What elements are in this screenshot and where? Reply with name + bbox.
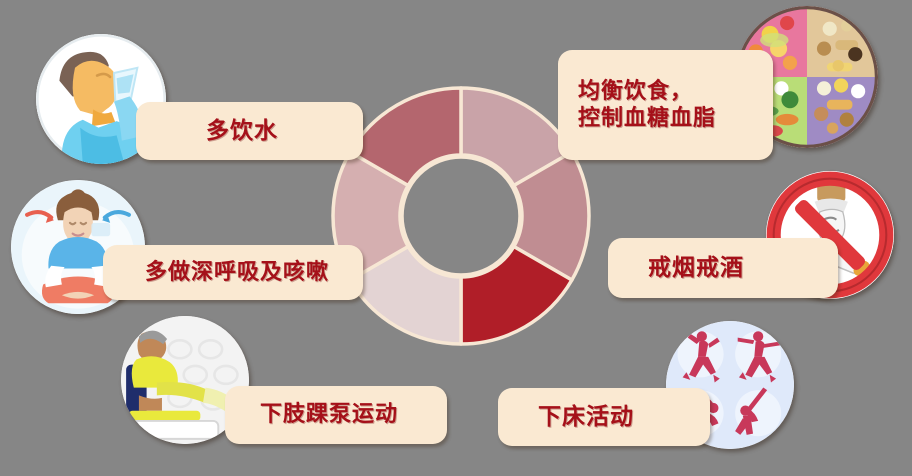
infographic-canvas: 多饮水 均衡饮食， 控制血糖血脂 多做深呼吸及咳嗽 戒烟戒酒 下肢踝泵运动 下床… bbox=[0, 0, 912, 476]
label-text-quit-smoking: 戒烟戒酒 bbox=[648, 254, 744, 283]
label-text-out-of-bed: 下床活动 bbox=[538, 403, 634, 432]
label-pill-diet[interactable]: 均衡饮食， 控制血糖血脂 bbox=[558, 50, 773, 160]
label-pill-ankle-pump[interactable]: 下肢踝泵运动 bbox=[225, 386, 447, 444]
label-pill-breathing[interactable]: 多做深呼吸及咳嗽 bbox=[103, 245, 363, 300]
label-text-water: 多饮水 bbox=[206, 117, 278, 146]
center-donut-chart bbox=[330, 85, 592, 347]
label-pill-quit-smoking[interactable]: 戒烟戒酒 bbox=[608, 238, 838, 298]
label-text-breathing: 多做深呼吸及咳嗽 bbox=[145, 259, 329, 287]
label-pill-water[interactable]: 多饮水 bbox=[136, 102, 363, 160]
label-text-diet: 均衡饮食， 控制血糖血脂 bbox=[578, 78, 716, 133]
label-pill-out-of-bed[interactable]: 下床活动 bbox=[498, 388, 710, 446]
label-text-ankle-pump: 下肢踝泵运动 bbox=[260, 401, 398, 429]
